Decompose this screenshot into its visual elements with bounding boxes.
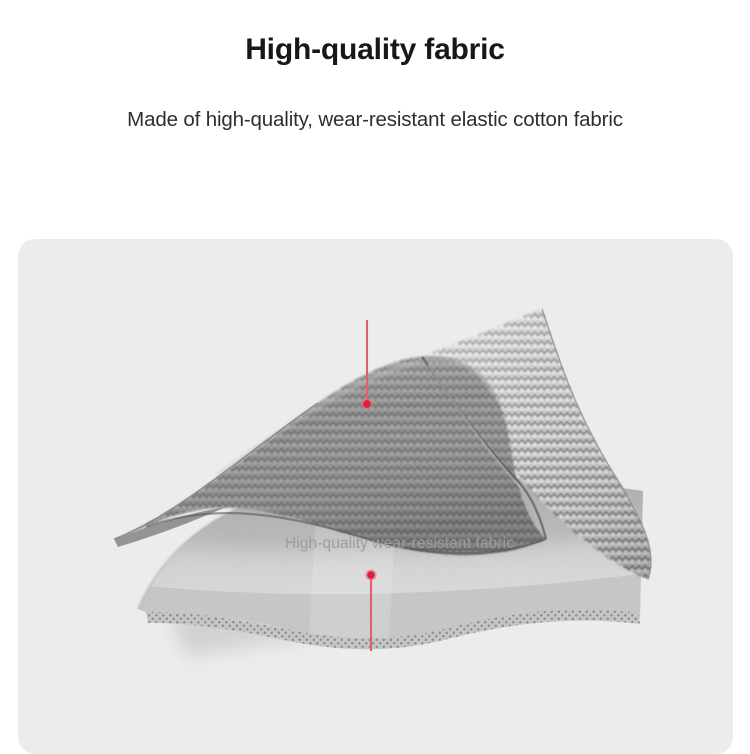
product-feature-page: High-quality fabric Made of high-quality… <box>0 0 750 750</box>
fabric-illustration-card: High-quality wear-resistant fabric Elast… <box>18 239 733 754</box>
leader-dot-bottom <box>367 571 375 579</box>
leader-dot-top <box>363 400 371 408</box>
fabric-cross-section-illustration <box>18 239 733 754</box>
outer-fabric-layer <box>114 356 546 555</box>
page-title: High-quality fabric <box>0 31 750 69</box>
page-subtitle: Made of high-quality, wear-resistant ela… <box>0 106 750 134</box>
annotation-label-outer-fabric: High-quality wear-resistant fabric <box>18 535 733 553</box>
